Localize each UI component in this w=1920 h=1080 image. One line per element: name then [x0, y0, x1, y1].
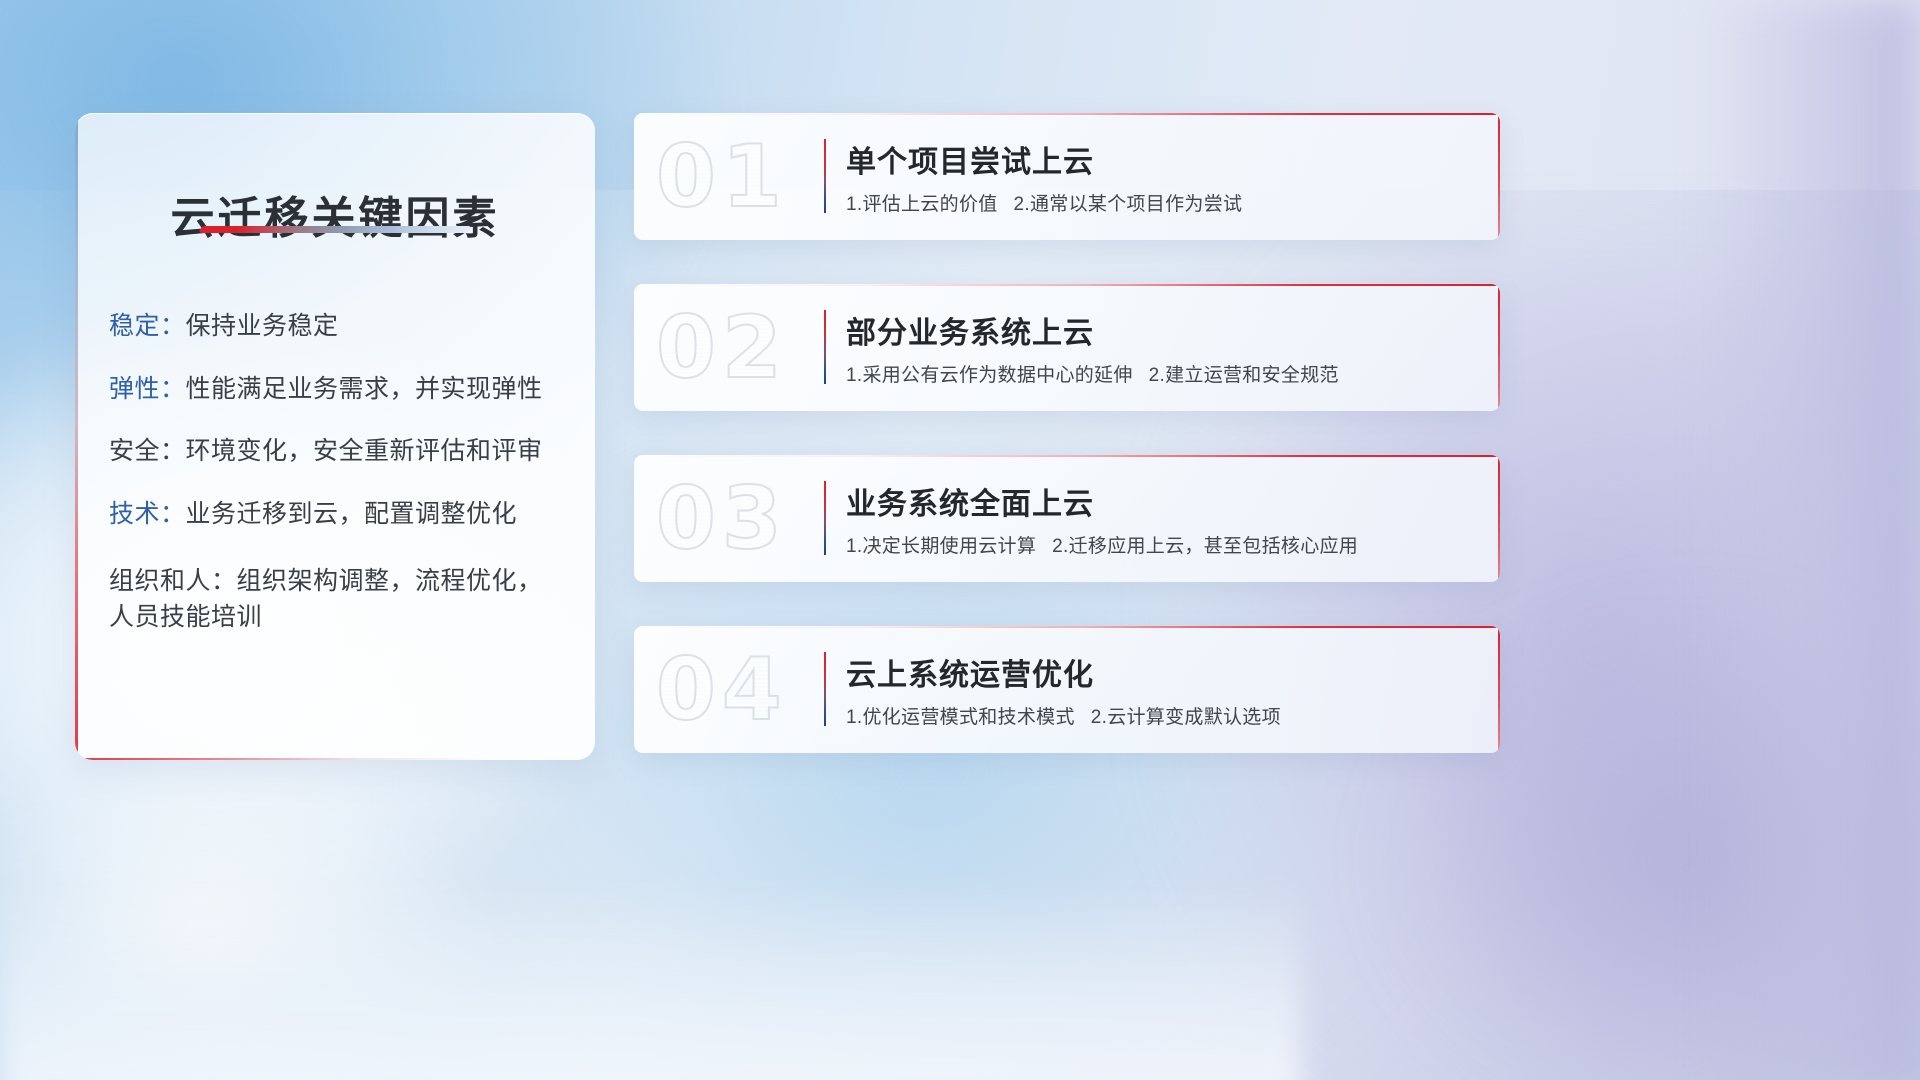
factor-value: 环境变化，安全重新评估和评审	[186, 437, 543, 465]
step-number-02-ghost: 02	[656, 298, 788, 398]
step-description-item-1: 1.优化运营模式和技术模式	[846, 707, 1075, 728]
key-factors-panel: 云迁移关键因素 稳定：保持业务稳定 弹性：性能满足业务需求，并实现弹性 安全：环…	[75, 113, 595, 760]
step-title: 部分业务系统上云	[846, 308, 1094, 352]
step-card-01[interactable]: 01 单个项目尝试上云 1.评估上云的价值2.通常以某个项目作为尝试	[634, 113, 1500, 240]
step-description-item-1: 1.决定长期使用云计算	[846, 536, 1036, 557]
step-divider-accent	[824, 481, 826, 555]
step-title: 业务系统全面上云	[846, 479, 1094, 523]
factor-label: 弹性：	[109, 375, 186, 403]
step-divider-accent	[824, 139, 826, 213]
step-description-item-1: 1.采用公有云作为数据中心的延伸	[846, 365, 1133, 386]
step-card-03[interactable]: 03 业务系统全面上云 1.决定长期使用云计算2.迁移应用上云，甚至包括核心应用	[634, 455, 1500, 582]
step-description-item-1: 1.评估上云的价值	[846, 194, 998, 215]
list-item: 组织和人：组织架构调整，流程优化，人员技能培训	[109, 563, 567, 636]
step-description: 1.优化运营模式和技术模式2.云计算变成默认选项	[846, 702, 1281, 729]
step-divider-accent	[824, 310, 826, 384]
factor-value: 保持业务稳定	[186, 312, 339, 340]
step-divider-accent	[824, 652, 826, 726]
list-item: 稳定：保持业务稳定	[109, 313, 567, 341]
step-description: 1.采用公有云作为数据中心的延伸2.建立运营和安全规范	[846, 360, 1339, 387]
step-description-item-2: 2.通常以某个项目作为尝试	[1014, 194, 1243, 215]
step-description: 1.决定长期使用云计算2.迁移应用上云，甚至包括核心应用	[846, 531, 1358, 558]
factor-label: 安全：	[109, 437, 186, 465]
page-title: 云迁移关键因素	[75, 182, 595, 246]
step-card-02[interactable]: 02 部分业务系统上云 1.采用公有云作为数据中心的延伸2.建立运营和安全规范	[634, 284, 1500, 411]
step-description: 1.评估上云的价值2.通常以某个项目作为尝试	[846, 189, 1242, 216]
step-title: 云上系统运营优化	[846, 650, 1094, 694]
step-description-item-2: 2.建立运营和安全规范	[1149, 365, 1339, 386]
factor-label: 稳定：	[109, 312, 186, 340]
step-description-item-2: 2.云计算变成默认选项	[1091, 707, 1281, 728]
step-number-03-ghost: 03	[656, 469, 788, 569]
step-number-01-ghost: 01	[656, 127, 788, 227]
step-description-item-2: 2.迁移应用上云，甚至包括核心应用	[1052, 536, 1358, 557]
factor-label: 组织和人：	[109, 567, 237, 595]
factor-label: 技术：	[109, 500, 186, 528]
step-title: 单个项目尝试上云	[846, 137, 1094, 181]
title-underline-accent	[198, 226, 472, 233]
factor-value: 性能满足业务需求，并实现弹性	[186, 375, 543, 403]
list-item: 安全：环境变化，安全重新评估和评审	[109, 438, 567, 466]
step-number-04-ghost: 04	[656, 640, 788, 740]
list-item: 弹性：性能满足业务需求，并实现弹性	[109, 376, 567, 404]
list-item: 技术：业务迁移到云，配置调整优化	[109, 501, 567, 529]
key-factors-list: 稳定：保持业务稳定 弹性：性能满足业务需求，并实现弹性 安全：环境变化，安全重新…	[109, 313, 567, 671]
step-card-04[interactable]: 04 云上系统运营优化 1.优化运营模式和技术模式2.云计算变成默认选项	[634, 626, 1500, 753]
factor-value: 业务迁移到云，配置调整优化	[186, 500, 518, 528]
